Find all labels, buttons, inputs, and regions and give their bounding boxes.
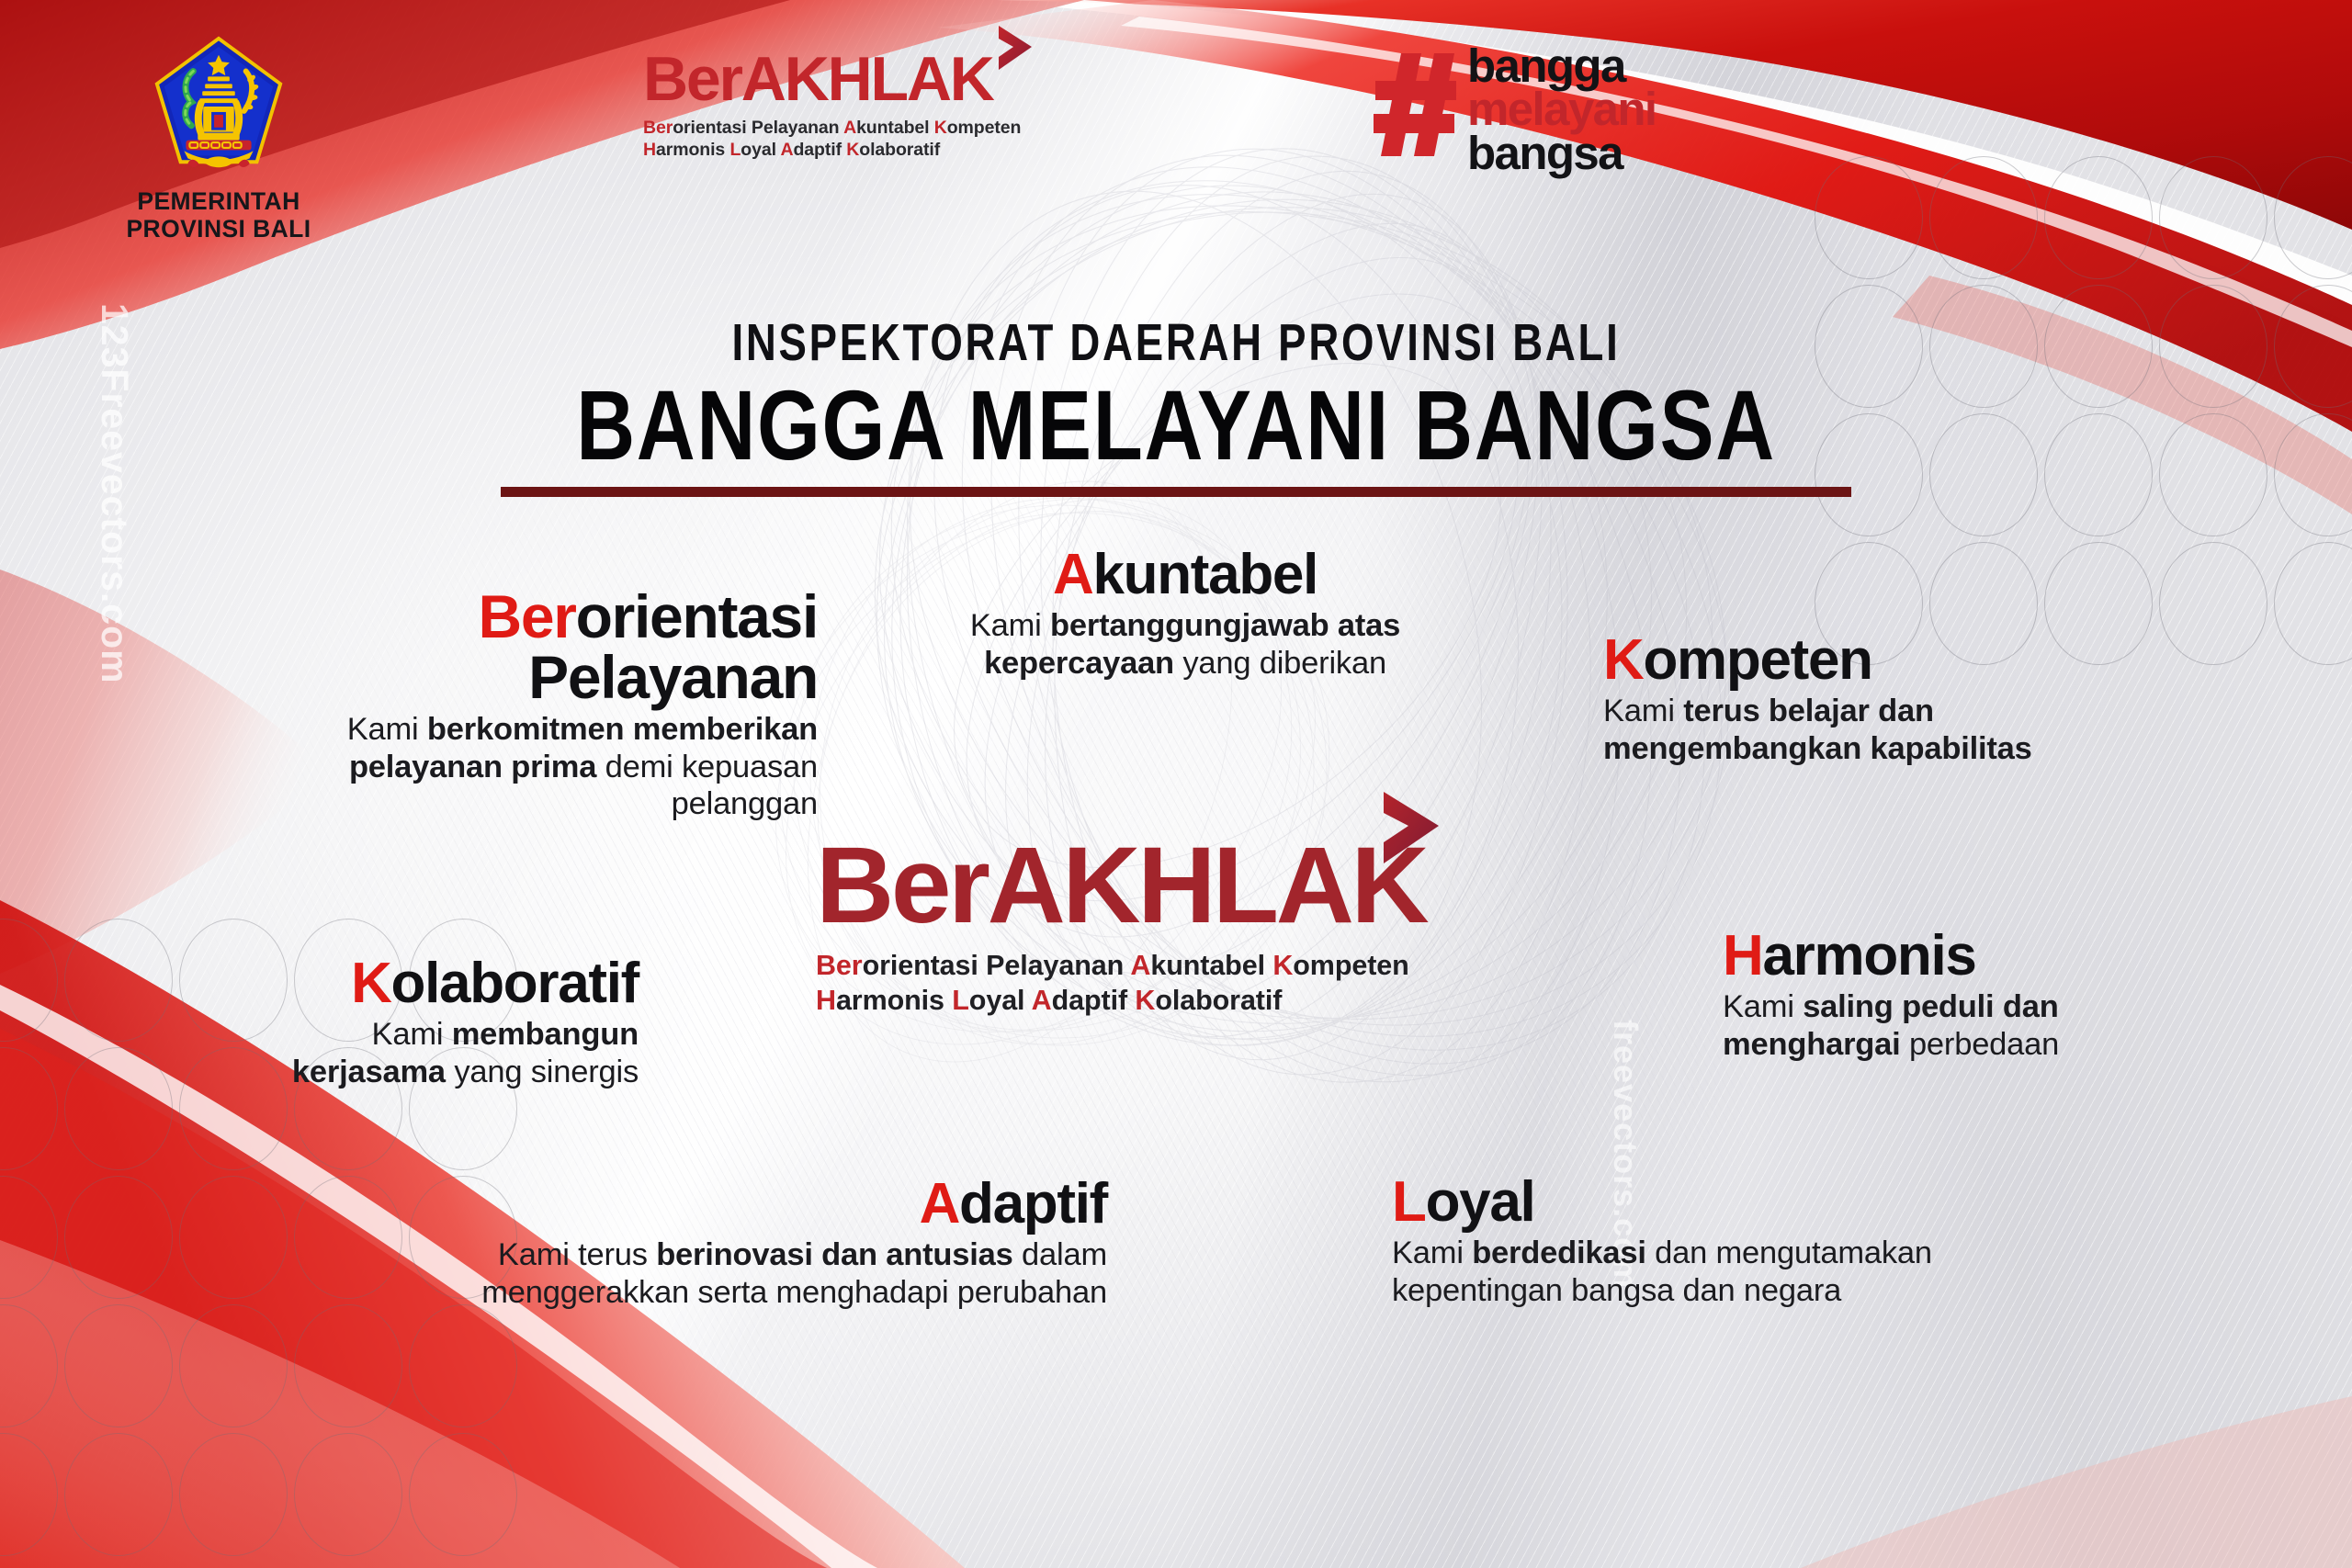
value-description: Kami berkomitmen memberikan pelayanan pr… xyxy=(230,711,818,823)
berakhlak-tagline-line1-top: Berorientasi Pelayanan Akuntabel Kompete… xyxy=(643,117,1021,139)
value-description: Kami membangun kerjasama yang sinergis xyxy=(216,1016,639,1090)
berakhlak-wordmark-center: BerAKHLAK xyxy=(816,831,1426,940)
hashtag-line-melayani: melayani xyxy=(1467,87,1657,130)
value-description: Kami bertanggungjawab atas kepercayaan y… xyxy=(919,607,1452,682)
organization-identity: PEMERINTAH PROVINSI BALI xyxy=(118,35,320,243)
value-heading: Kompeten xyxy=(1603,632,2118,689)
org-label-line1: PEMERINTAH xyxy=(118,187,320,215)
berakhlak-tagline-line2-top: Harmonis Loyal Adaptif Kolaboratif xyxy=(643,139,1021,161)
value-heading: BerorientasiPelayanan xyxy=(230,586,818,707)
value-akuntabel: Akuntabel Kami bertanggungjawab atas kep… xyxy=(919,547,1452,682)
berakhlak-tagline-line2-center: Harmonis Loyal Adaptif Kolaboratif xyxy=(816,984,1426,1019)
poster-canvas: 123Freevectors.com freevectors.com xyxy=(0,0,2352,1568)
berakhlak-logo-top: BerAKHLAK Berorientasi Pelayanan Akuntab… xyxy=(643,48,1021,161)
value-description: Kami terus belajar dan mengembangkan kap… xyxy=(1603,693,2118,767)
bali-province-crest-icon xyxy=(151,35,287,182)
value-heading: Harmonis xyxy=(1723,928,2154,985)
value-loyal: Loyal Kami berdedikasi dan mengutamakan … xyxy=(1392,1174,1998,1309)
value-harmonis: Harmonis Kami saling peduli dan mengharg… xyxy=(1723,928,2154,1063)
title-underline-rule xyxy=(501,487,1851,497)
poster-title-block: INSPEKTORAT DAERAH PROVINSI BALI BANGGA … xyxy=(0,312,2352,497)
value-heading: Kolaboratif xyxy=(216,955,639,1012)
title-kicker: INSPEKTORAT DAERAH PROVINSI BALI xyxy=(235,312,2117,373)
value-kompeten: Kompeten Kami terus belajar dan mengemba… xyxy=(1603,632,2118,767)
berakhlak-wordmark-top: BerAKHLAK xyxy=(643,48,993,110)
berakhlak-logo-center: BerAKHLAK Berorientasi Pelayanan Akuntab… xyxy=(816,831,1426,1019)
value-heading: Loyal xyxy=(1392,1174,1998,1231)
value-description: Kami saling peduli dan menghargai perbed… xyxy=(1723,988,2154,1063)
value-berorientasi-pelayanan: BerorientasiPelayanan Kami berkomitmen m… xyxy=(230,586,818,823)
berakhlak-tagline-line1-center: Berorientasi Pelayanan Akuntabel Kompete… xyxy=(816,949,1426,984)
hashtag-line-bangsa: bangsa xyxy=(1467,131,1657,175)
hashtag-icon xyxy=(1374,50,1458,160)
bangga-melayani-bangsa-logo: bangga melayani bangsa xyxy=(1374,44,1657,175)
page-title: BANGGA MELAYANI BANGSA xyxy=(211,375,2140,476)
value-description: Kami berdedikasi dan mengutamakan kepent… xyxy=(1392,1235,1998,1309)
hashtag-line-bangga: bangga xyxy=(1467,44,1657,87)
org-label-line2: PROVINSI BALI xyxy=(118,215,320,243)
value-kolaboratif: Kolaboratif Kami membangun kerjasama yan… xyxy=(216,955,639,1090)
value-heading: Akuntabel xyxy=(919,547,1452,604)
value-heading: Adaptif xyxy=(464,1176,1107,1233)
value-description: Kami terus berinovasi dan antusias dalam… xyxy=(464,1236,1107,1311)
value-adaptif: Adaptif Kami terus berinovasi dan antusi… xyxy=(464,1176,1107,1311)
